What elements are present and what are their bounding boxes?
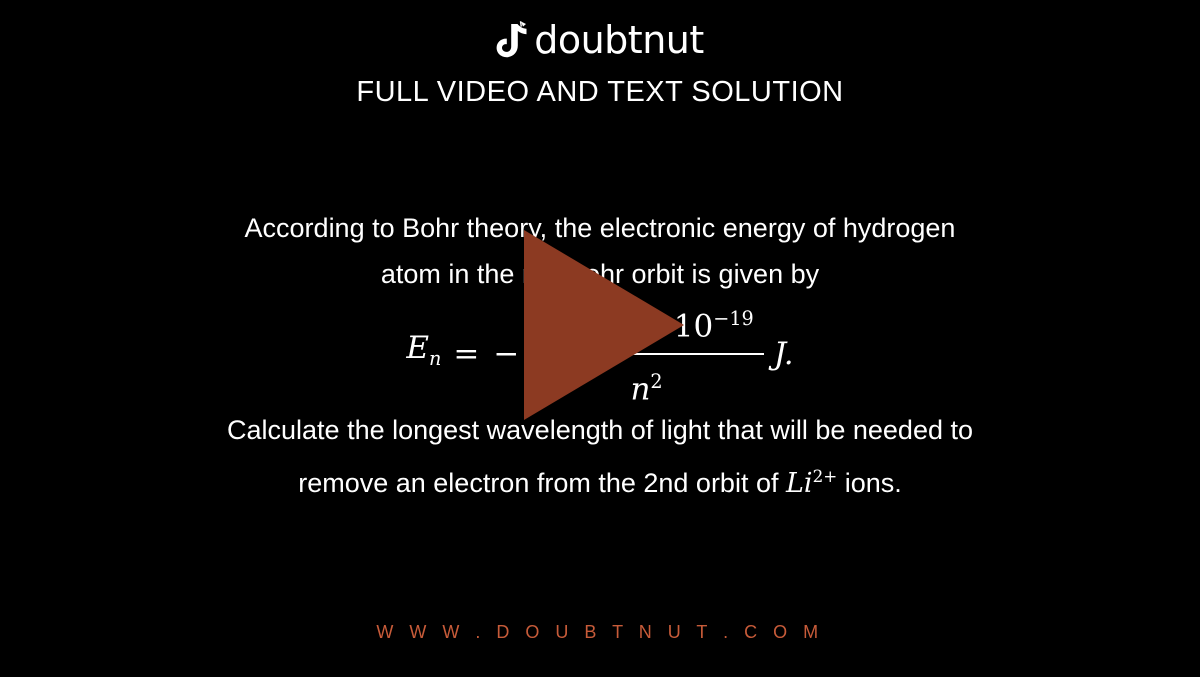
page-subtitle: FULL VIDEO AND TEXT SOLUTION: [0, 76, 1200, 109]
ion-symbol: Li2+: [786, 468, 837, 499]
formula-lhs: En: [406, 325, 441, 382]
question-line-4-text-b: ions.: [837, 468, 902, 498]
doubtnut-note-icon: [496, 21, 530, 59]
logo-wordmark: doubtnut: [534, 21, 704, 59]
question-line-4-text-a: remove an electron from the 2nd orbit of: [298, 468, 786, 498]
play-button[interactable]: [524, 230, 684, 420]
formula-minus: −: [493, 331, 519, 377]
formula-equals: =: [453, 331, 479, 377]
footer-website: W W W . D O U B T N U T . C O M: [0, 622, 1200, 643]
brand-logo: doubtnut: [0, 18, 1200, 62]
question-line-4: remove an electron from the 2nd orbit of…: [100, 453, 1100, 507]
formula-unit: J.: [774, 331, 794, 377]
